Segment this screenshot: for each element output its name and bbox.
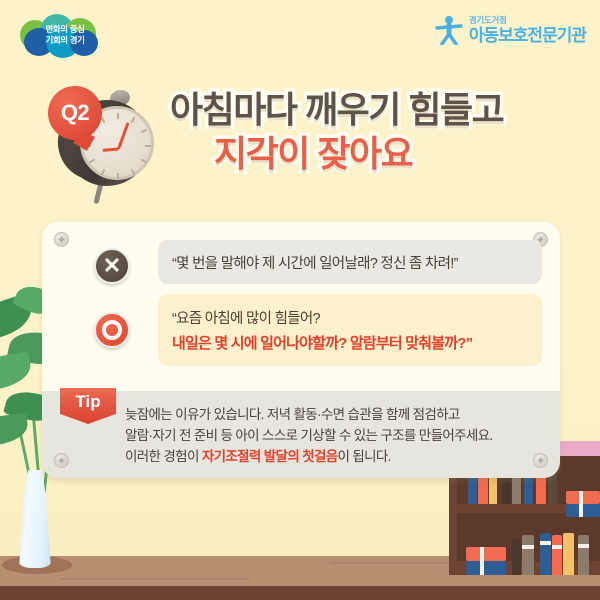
gyeonggi-logo-text: 변화의 중심 기회의 경기 (30, 24, 100, 46)
floor-seam (60, 578, 250, 580)
screw-icon: ✥ (54, 453, 69, 468)
title-line-1: 아침마다 깨우기 힘들고 (170, 88, 590, 132)
tip-line-2: 알람·자기 전 준비 등 아이 스스로 기상할 수 있는 구조를 만들어주세요. (125, 425, 545, 446)
org-logo-sub: 경기도거점 (469, 16, 586, 25)
child-figure-icon (435, 15, 463, 45)
title-line-2: 지각이 잦아요 (170, 132, 590, 176)
tip-highlight: 자기조절력 발달의 첫걸음 (202, 449, 338, 464)
tip-line-1: 늦잠에는 이유가 있습니다. 저녁 활동·수면 습관을 함께 점검하고 (125, 404, 545, 425)
organization-logo: 경기도거점 아동보호전문기관 (435, 10, 586, 50)
x-mark-icon: ✕ (94, 248, 130, 284)
page-title: 아침마다 깨우기 힘들고 지각이 잦아요 (170, 88, 590, 176)
gyeonggi-province-logo: 변화의 중심 기회의 경기 (20, 14, 106, 58)
good-example-bubble: “요즘 아침에 많이 힘들어? 내일은 몇 시에 일어나야할까? 알람부터 맞춰… (158, 294, 542, 366)
tip-body: 늦잠에는 이유가 있습니다. 저녁 활동·수면 습관을 함께 점검하고 알람·자… (125, 404, 545, 467)
bad-example-text: “몇 번을 말해야 제 시간에 일어날래? 정신 좀 차려!” (172, 252, 458, 273)
clock-minute-hand (117, 122, 129, 149)
alarm-clock-illustration: Q2 (52, 78, 172, 198)
org-logo-main: 아동보호전문기관 (469, 27, 586, 44)
screw-icon: ✥ (54, 232, 69, 247)
good-example-line-2: 내일은 몇 시에 일어나야할까? 알람부터 맞춰볼까?” (172, 332, 542, 353)
tip-line-3: 이러한 경험이 자기조절력 발달의 첫걸음이 됩니다. (125, 446, 545, 467)
tip-line-3-pre: 이러한 경험이 (125, 449, 202, 464)
gg-logo-line2: 기회의 경기 (30, 35, 100, 46)
clock-hour-hand (102, 148, 118, 152)
question-number-badge: Q2 (48, 86, 102, 140)
floor-baseboard (0, 586, 600, 600)
bad-example-bubble: “몇 번을 말해야 제 시간에 일어날래? 정신 좀 차려!” (158, 240, 542, 284)
circle-mark-icon (94, 312, 130, 348)
good-example-line-1: “요즘 아침에 많이 힘들어? (172, 307, 542, 328)
tip-line-3-post: 이 됩니다. (338, 449, 391, 464)
gg-logo-line1: 변화의 중심 (30, 24, 100, 35)
